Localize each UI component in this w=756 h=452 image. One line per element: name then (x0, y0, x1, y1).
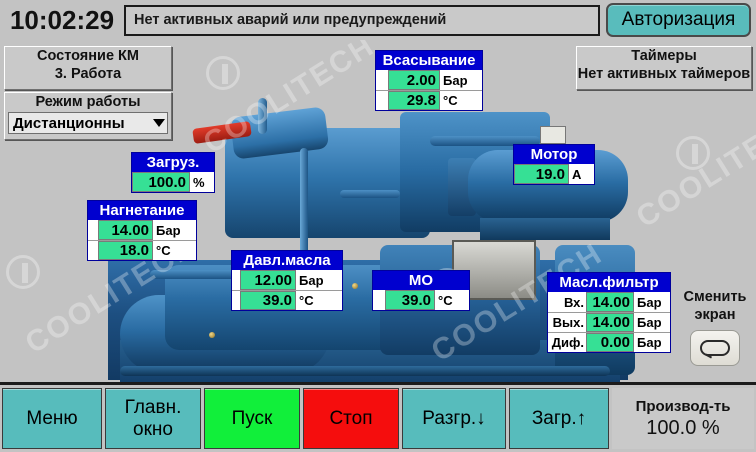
watermark-text: COOLITECH (631, 103, 756, 235)
widget-suction-row: 2.00 Бар (376, 70, 482, 90)
widget-discharge-row: 14.00 Бар (88, 220, 196, 240)
oil-pressure-value: 12.00 (240, 270, 296, 290)
widget-oil-filter-row: Вых. 14.00 Бар (548, 312, 670, 332)
widget-motor-title: Мотор (514, 145, 594, 164)
pipe-mid (340, 190, 400, 198)
suction-temperature-value: 29.8 (388, 91, 440, 110)
widget-discharge-row: 18.0 °C (88, 240, 196, 260)
loop-icon (700, 340, 730, 356)
widget-mo-row: 39.0 °C (373, 290, 469, 310)
widget-discharge-title: Нагнетание (88, 201, 196, 220)
main-window-label-line1: Главн. (125, 397, 182, 419)
nameplate (540, 126, 566, 144)
widget-oil-filter: Масл.фильтр Вх. 14.00 Бар Вых. 14.00 Бар… (547, 272, 671, 353)
suction-pressure-value: 2.00 (388, 70, 440, 90)
widget-oil-pressure-row: 39.0 °C (232, 290, 342, 310)
widget-motor: Мотор 19.0 A (513, 144, 595, 185)
widget-mo-title: МО (373, 271, 469, 290)
stop-button[interactable]: Стоп (303, 388, 399, 449)
widget-oil-pressure-row: 12.00 Бар (232, 270, 342, 290)
bottom-button-bar: Меню Главн. окно Пуск Стоп Разгр.↓ Загр.… (0, 382, 756, 452)
change-screen-button[interactable] (690, 330, 740, 366)
compressor-state-panel: Состояние КМ 3. Работа (4, 46, 172, 90)
mo-temperature-unit: °C (435, 290, 469, 310)
discharge-temperature-unit: °C (153, 241, 196, 260)
menu-button[interactable]: Меню (2, 388, 102, 449)
widget-oil-filter-row: Диф. 0.00 Бар (548, 332, 670, 352)
oil-filter-inlet-value: 14.00 (586, 292, 634, 312)
pipe-horizontal-left (150, 270, 240, 279)
oil-temperature-value: 39.0 (240, 291, 296, 310)
discharge-pressure-value: 14.00 (98, 220, 153, 240)
oil-temperature-unit: °C (296, 291, 342, 310)
widget-discharge: Нагнетание 14.00 Бар 18.0 °C (87, 200, 197, 261)
watermark-logo-icon (6, 255, 40, 289)
watermark-logo-icon (676, 136, 710, 170)
unload-button[interactable]: Разгр.↓ (402, 388, 506, 449)
load-percent-value: 100.0 (132, 172, 190, 192)
timers-title: Таймеры (577, 47, 751, 65)
motor-current-unit: A (569, 164, 594, 184)
start-button[interactable]: Пуск (204, 388, 300, 449)
change-screen-control[interactable]: Сменить экран (676, 288, 754, 366)
widget-load-row: 100.0 % (132, 172, 214, 192)
bolt (352, 283, 358, 289)
load-button[interactable]: Загр.↑ (509, 388, 609, 449)
authorization-button[interactable]: Авторизация (606, 3, 751, 37)
compressor-state-value: 3. Работа (5, 65, 171, 83)
bolt (209, 332, 215, 338)
oil-filter-diff-label: Диф. (548, 333, 586, 352)
top-status-bar: 10:02:29 Нет активных аварий или предупр… (0, 0, 756, 40)
widget-oil-pressure-title: Давл.масла (232, 251, 342, 270)
oil-filter-outlet-unit: Бар (634, 313, 670, 332)
widget-oil-filter-title: Масл.фильтр (548, 273, 670, 292)
widget-load-percent: Загруз. 100.0 % (131, 152, 215, 193)
alarm-message-banner: Нет активных аварий или предупреждений (124, 5, 600, 36)
compressor-state-title: Состояние КМ (5, 47, 171, 65)
pipe-stub-top (258, 98, 267, 134)
timers-value: Нет активных таймеров (577, 65, 751, 83)
motor-current-value: 19.0 (514, 164, 569, 184)
widget-motor-row: 19.0 A (514, 164, 594, 184)
stop-button-label: Стоп (329, 408, 372, 430)
main-window-button[interactable]: Главн. окно (105, 388, 201, 449)
capacity-title: Производ-ть (636, 397, 731, 416)
pipe-bottom-rail (120, 366, 610, 376)
suction-pressure-unit: Бар (440, 70, 482, 90)
oil-filter-diff-value: 0.00 (586, 333, 634, 352)
machine-graphic-area: COOLITECH COOLITECH COOLITECH COOLITECH … (0, 40, 756, 382)
widget-mo: МО 39.0 °C (372, 270, 470, 311)
discharge-temperature-value: 18.0 (98, 241, 153, 260)
operating-mode-panel: Режим работы Дистанционны (4, 92, 172, 140)
operating-mode-select[interactable]: Дистанционны (8, 112, 168, 134)
widget-load-title: Загруз. (132, 153, 214, 172)
widget-oil-filter-row: Вх. 14.00 Бар (548, 292, 670, 312)
oil-filter-inlet-unit: Бар (634, 292, 670, 312)
load-percent-unit: % (190, 172, 214, 192)
change-screen-label-line2: экран (676, 306, 754, 324)
pipe-vertical-main (300, 148, 308, 260)
capacity-value: 100.0 % (646, 416, 719, 440)
motor-base (480, 218, 610, 240)
suction-temperature-unit: °C (440, 91, 482, 110)
clock-display: 10:02:29 (0, 0, 124, 40)
capacity-readout: Производ-ть 100.0 % (612, 388, 754, 449)
main-window-label-line2: окно (133, 419, 173, 441)
unload-button-label: Разгр.↓ (422, 408, 485, 430)
widget-oil-pressure: Давл.масла 12.00 Бар 39.0 °C (231, 250, 343, 311)
discharge-pressure-unit: Бар (153, 220, 196, 240)
oil-filter-diff-unit: Бар (634, 333, 670, 352)
widget-suction-row: 29.8 °C (376, 90, 482, 110)
oil-filter-outlet-value: 14.00 (586, 313, 634, 332)
mo-temperature-value: 39.0 (385, 290, 435, 310)
menu-button-label: Меню (26, 408, 77, 430)
chevron-down-icon (153, 119, 165, 127)
hmi-screen: 10:02:29 Нет активных аварий или предупр… (0, 0, 756, 452)
widget-suction: Всасывание 2.00 Бар 29.8 °C (375, 50, 483, 111)
oil-filter-outlet-label: Вых. (548, 313, 586, 332)
timers-panel: Таймеры Нет активных таймеров (576, 46, 752, 90)
widget-suction-title: Всасывание (376, 51, 482, 70)
oil-filter-inlet-label: Вх. (548, 292, 586, 312)
change-screen-label-line1: Сменить (676, 288, 754, 306)
start-button-label: Пуск (232, 408, 273, 430)
watermark-logo-icon (206, 56, 240, 90)
operating-mode-selected-value: Дистанционны (13, 115, 125, 132)
operating-mode-title: Режим работы (5, 93, 171, 111)
load-button-label: Загр.↑ (532, 408, 586, 430)
oil-pressure-unit: Бар (296, 270, 342, 290)
